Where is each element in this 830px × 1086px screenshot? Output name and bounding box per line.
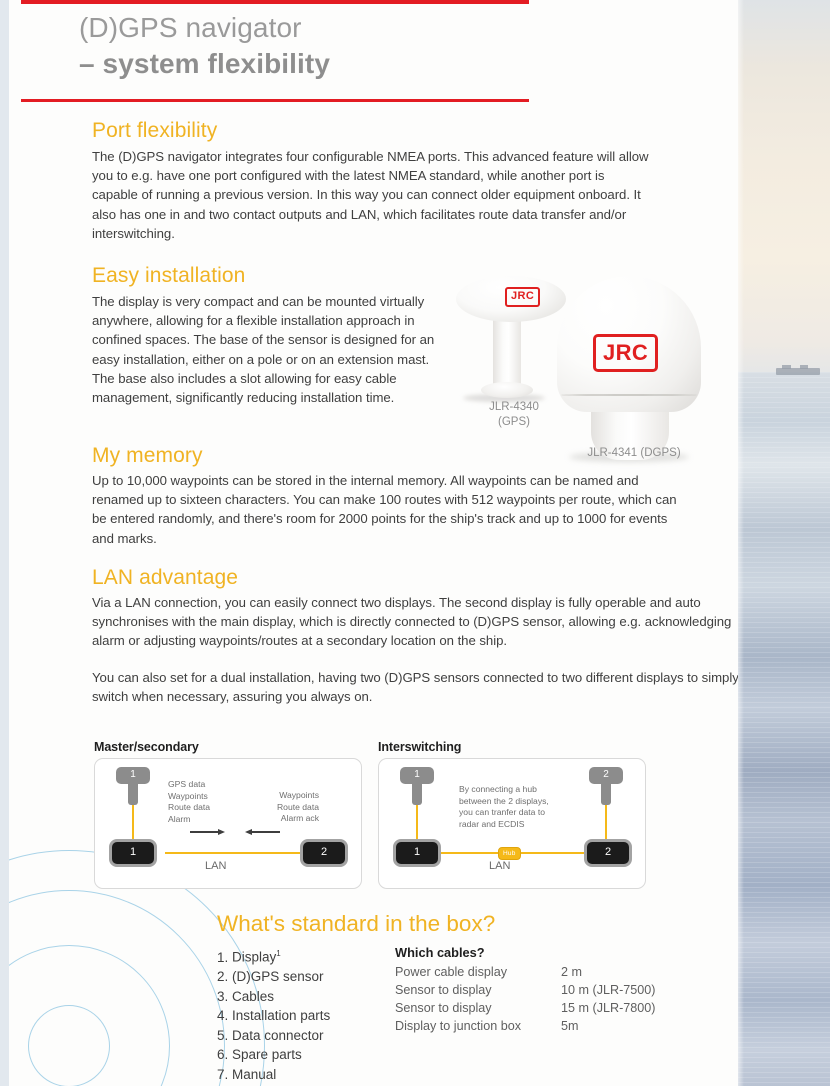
box-list-item-number: 3. <box>217 987 232 1007</box>
radar-arc-3 <box>9 890 225 1086</box>
box-list-item-label: Cables <box>232 989 274 1004</box>
box-list-item-label: Installation parts <box>232 1008 330 1023</box>
page-title: (D)GPS navigator – system flexibility <box>79 10 549 82</box>
section-heading-lan: LAN advantage <box>92 565 738 590</box>
arrow-right-bar <box>190 831 218 833</box>
box-list-item-number: 4. <box>217 1006 232 1026</box>
diagram-row: Master/secondary 1 1 2 <box>94 740 654 895</box>
photo-edge-fade <box>738 0 830 1086</box>
box-list-item-label: Data connector <box>232 1028 324 1043</box>
section-easy-installation: Easy installation The display is very co… <box>92 263 444 407</box>
sensor-icon-right-2: 2 <box>589 767 623 805</box>
section-port-flexibility: Port flexibility The (D)GPS navigator in… <box>92 118 652 243</box>
display-label-right-2: 2 <box>587 845 629 859</box>
box-list-item: 5.Data connector <box>217 1026 387 1046</box>
product-caption-small: JLR-4340 (GPS) <box>454 400 574 430</box>
display-icon-left-2: 1 <box>393 839 441 867</box>
radar-arc-2 <box>9 945 170 1086</box>
display-label-left: 1 <box>112 845 154 859</box>
diagram-labels-left-to-right: GPS data Waypoints Route data Alarm <box>168 779 238 825</box>
label-waypoints: Waypoints <box>168 791 238 803</box>
display-icon-right: 2 <box>300 839 348 867</box>
label-gps-data: GPS data <box>168 779 238 791</box>
box-list-item: 2.(D)GPS sensor <box>217 967 387 987</box>
box-list-item-footnote-marker: 1 <box>276 949 280 958</box>
jrc-logo-small: JRC <box>505 286 540 307</box>
cable-row: Display to junction box5m <box>395 1017 735 1035</box>
cable-row: Sensor to display15 m (JLR-7800) <box>395 999 735 1017</box>
left-edge-strip <box>0 0 9 1086</box>
cable-name: Sensor to display <box>395 999 492 1017</box>
display-label-left-2: 1 <box>396 845 438 859</box>
diagram-interswitching: Interswitching 1 2 <box>378 740 646 889</box>
section-body-memory: Up to 10,000 waypoints can be stored in … <box>92 471 692 548</box>
box-contents-list: 1.Display12.(D)GPS sensor3.Cables4.Insta… <box>217 944 387 1084</box>
section-standard-in-box: What's standard in the box? 1.Display12.… <box>217 910 737 944</box>
header-rule-top <box>21 0 529 4</box>
sensor-icon-left-2: 1 <box>400 767 434 805</box>
display-label-right: 2 <box>303 845 345 859</box>
product-caption-small-line1: JLR-4340 <box>454 400 574 415</box>
box-list-item: 1.Display1 <box>217 944 387 967</box>
header-rule-bottom <box>21 99 529 102</box>
label-route-data: Route data <box>168 802 238 814</box>
diagram-note-interswitching: By connecting a hub between the 2 displa… <box>459 784 567 830</box>
jrc-logo-text-small: JRC <box>505 287 540 307</box>
note-line-3: you can tranfer data to <box>459 807 567 819</box>
cable-name: Power cable display <box>395 963 507 981</box>
page-body: (D)GPS navigator – system flexibility Po… <box>9 0 738 1086</box>
section-heading-port: Port flexibility <box>92 118 652 143</box>
label-waypoints-ack: Waypoints <box>243 790 319 802</box>
sensor-neck-right <box>601 782 611 805</box>
sensor-label-left-2: 1 <box>400 768 434 782</box>
cable-name: Sensor to display <box>395 981 492 999</box>
diagram-master-secondary: Master/secondary 1 1 2 <box>94 740 362 889</box>
box-list-item: 6.Spare parts <box>217 1045 387 1065</box>
cable-length: 5m <box>561 1017 579 1035</box>
section-body-lan-2: You can also set for a dual installation… <box>92 668 738 706</box>
label-alarm-ack: Alarm ack <box>243 813 319 825</box>
box-list-item-number: 2. <box>217 967 232 987</box>
cable-row: Sensor to display10 m (JLR-7500) <box>395 981 735 999</box>
arrow-left-icon <box>245 829 280 835</box>
jrc-logo-big: JRC <box>593 334 658 372</box>
cable-row: Power cable display2 m <box>395 963 735 981</box>
display-icon-left: 1 <box>109 839 157 867</box>
box-list-item-number: 6. <box>217 1045 232 1065</box>
box-list-item-number: 5. <box>217 1026 232 1046</box>
diagram-box-interswitching: 1 2 1 2 Hub By connecting <box>378 758 646 889</box>
section-heading-box: What's standard in the box? <box>217 910 737 938</box>
box-list-item-label: Spare parts <box>232 1047 302 1062</box>
section-heading-memory: My memory <box>92 443 692 468</box>
wire-lan-left <box>165 852 317 854</box>
page-title-line1: (D)GPS navigator <box>79 10 549 46</box>
diagram-caption-master: Master/secondary <box>94 740 362 754</box>
section-lan-advantage: LAN advantage Via a LAN connection, you … <box>92 565 738 706</box>
diagram-caption-interswitching: Interswitching <box>378 740 646 754</box>
box-list-item-number: 1. <box>217 948 232 968</box>
diagram-labels-right-to-left: Waypoints Route data Alarm ack <box>243 790 319 825</box>
arrow-left-tip <box>245 829 252 835</box>
sensor-neck-left <box>412 782 422 805</box>
lan-label-master: LAN <box>205 860 226 873</box>
box-list-item: 3.Cables <box>217 987 387 1007</box>
note-line-1: By connecting a hub <box>459 784 567 796</box>
cable-length: 15 m (JLR-7800) <box>561 999 656 1017</box>
section-body-install: The display is very compact and can be m… <box>92 292 444 407</box>
arrow-right-tip <box>218 829 225 835</box>
box-list-item: 7.Manual <box>217 1065 387 1085</box>
cables-table: Which cables? Power cable display2 mSens… <box>395 944 735 1035</box>
cable-length: 2 m <box>561 963 582 981</box>
sensor-icon-1: 1 <box>116 767 150 805</box>
cables-title: Which cables? <box>395 944 735 962</box>
note-line-2: between the 2 displays, <box>459 796 567 808</box>
brochure-page: (D)GPS navigator – system flexibility Po… <box>0 0 830 1086</box>
section-heading-install: Easy installation <box>92 263 444 288</box>
seascape-photo <box>738 0 830 1086</box>
product-photo-group: JRC JRC <box>449 256 699 466</box>
box-items-ol: 1.Display12.(D)GPS sensor3.Cables4.Insta… <box>217 944 387 1084</box>
diagram-box-master: 1 1 2 GPS data Waypoints Route data Alar… <box>94 758 362 889</box>
cable-name: Display to junction box <box>395 1017 521 1035</box>
hub-badge: Hub <box>498 847 521 860</box>
label-route-data-ack: Route data <box>243 802 319 814</box>
label-alarm: Alarm <box>168 814 238 826</box>
dgps-antenna-jlr4341: JRC <box>557 276 707 456</box>
box-list-item-number: 7. <box>217 1065 232 1085</box>
cable-rows: Power cable display2 mSensor to display1… <box>395 963 735 1035</box>
section-body-lan-1: Via a LAN connection, you can easily con… <box>92 593 738 651</box>
arrow-right-icon <box>190 829 225 835</box>
box-list-item-label: (D)GPS sensor <box>232 969 324 984</box>
box-list-item: 4.Installation parts <box>217 1006 387 1026</box>
lan-label-interswitching: LAN <box>489 860 510 873</box>
page-title-line2: – system flexibility <box>79 46 549 82</box>
sensor-label-right-2: 2 <box>589 768 623 782</box>
section-my-memory: My memory Up to 10,000 waypoints can be … <box>92 443 692 548</box>
box-list-item-label: Manual <box>232 1067 276 1082</box>
product-caption-small-line2: (GPS) <box>454 415 574 430</box>
note-line-4: radar and ECDIS <box>459 819 567 831</box>
section-body-port: The (D)GPS navigator integrates four con… <box>92 147 652 243</box>
antenna-small-foot <box>481 382 533 398</box>
cable-length: 10 m (JLR-7500) <box>561 981 656 999</box>
display-icon-right-2: 2 <box>584 839 632 867</box>
sensor-label-1: 1 <box>116 768 150 782</box>
box-list-item-label: Display <box>232 950 276 965</box>
sensor-neck <box>128 782 138 805</box>
radar-arc-1 <box>28 1005 110 1086</box>
arrow-left-bar <box>252 831 280 833</box>
jrc-logo-text-big: JRC <box>593 334 658 372</box>
antenna-big-seam <box>561 394 697 396</box>
